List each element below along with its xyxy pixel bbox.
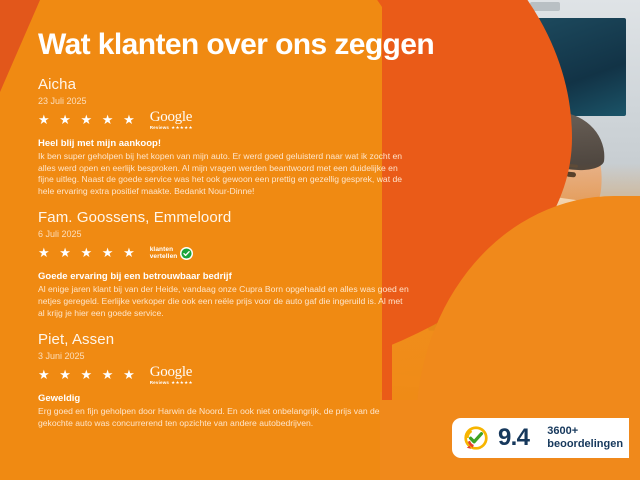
google-wordmark: Google bbox=[150, 365, 193, 380]
google-mini-stars: ★★★★★ bbox=[171, 126, 193, 131]
review-headline: Goede ervaring bij een betrouwbaar bedri… bbox=[38, 270, 410, 283]
klantenvertellen-logo: klanten vertellen bbox=[150, 246, 194, 261]
review-count-label: beoordelingen bbox=[547, 438, 623, 451]
google-sub-row: Reviews ★★★★★ bbox=[150, 381, 193, 386]
testimonial-banner: VDH Wat klanten over ons zeggen bbox=[0, 0, 640, 480]
google-sub-row: Reviews ★★★★★ bbox=[150, 126, 193, 131]
google-reviews-label: Reviews bbox=[150, 126, 169, 131]
star-rating: ★ ★ ★ ★ ★ bbox=[38, 366, 138, 384]
page-title: Wat klanten over ons zeggen bbox=[38, 28, 434, 62]
klantenvertellen-wordmark: klanten vertellen bbox=[150, 246, 178, 261]
review-headline: Heel blij met mijn aankoop! bbox=[38, 137, 410, 150]
review-rating-row: ★ ★ ★ ★ ★ klanten vertellen bbox=[38, 244, 410, 262]
review-date: 23 Juli 2025 bbox=[38, 95, 410, 108]
klantenvertellen-line2: vertellen bbox=[150, 253, 178, 261]
review-rating-row: ★ ★ ★ ★ ★ Google Reviews ★★★★★ bbox=[38, 366, 410, 384]
google-reviews-label: Reviews bbox=[150, 381, 169, 386]
klantenvertellen-seal-icon bbox=[463, 425, 489, 451]
review-headline: Geweldig bbox=[38, 392, 410, 405]
review-body: Al enige jaren klant bij van der Heide, … bbox=[38, 284, 410, 319]
checkmark-circle-icon bbox=[180, 247, 193, 260]
review-rating-row: ★ ★ ★ ★ ★ Google Reviews ★★★★★ bbox=[38, 111, 410, 129]
review-count: 3600+ bbox=[547, 425, 623, 438]
google-reviews-logo: Google Reviews ★★★★★ bbox=[150, 110, 193, 131]
review-body: Erg goed en fijn geholpen door Harwin de… bbox=[38, 406, 410, 429]
google-mini-stars: ★★★★★ bbox=[171, 381, 193, 386]
star-rating: ★ ★ ★ ★ ★ bbox=[38, 244, 138, 262]
review-item: Piet, Assen 3 Juni 2025 ★ ★ ★ ★ ★ Google… bbox=[38, 331, 410, 429]
review-date: 6 Juli 2025 bbox=[38, 228, 410, 241]
score-badge: 9.4 3600+ beoordelingen bbox=[452, 418, 629, 458]
review-date: 3 Juni 2025 bbox=[38, 350, 410, 363]
score-value: 9.4 bbox=[498, 426, 529, 450]
review-body: Ik ben super geholpen bij het kopen van … bbox=[38, 151, 410, 197]
review-author: Fam. Goossens, Emmeloord bbox=[38, 209, 410, 227]
review-item: Fam. Goossens, Emmeloord 6 Juli 2025 ★ ★… bbox=[38, 209, 410, 319]
review-author: Aicha bbox=[38, 76, 410, 94]
score-meta: 3600+ beoordelingen bbox=[547, 425, 623, 451]
content-layer: Wat klanten over ons zeggen Aicha 23 Jul… bbox=[0, 0, 640, 480]
review-list: Aicha 23 Juli 2025 ★ ★ ★ ★ ★ Google Revi… bbox=[38, 76, 410, 441]
google-wordmark: Google bbox=[150, 110, 193, 125]
review-author: Piet, Assen bbox=[38, 331, 410, 349]
star-rating: ★ ★ ★ ★ ★ bbox=[38, 111, 138, 129]
klantenvertellen-line1: klanten bbox=[150, 246, 178, 254]
review-item: Aicha 23 Juli 2025 ★ ★ ★ ★ ★ Google Revi… bbox=[38, 76, 410, 197]
google-reviews-logo: Google Reviews ★★★★★ bbox=[150, 365, 193, 386]
